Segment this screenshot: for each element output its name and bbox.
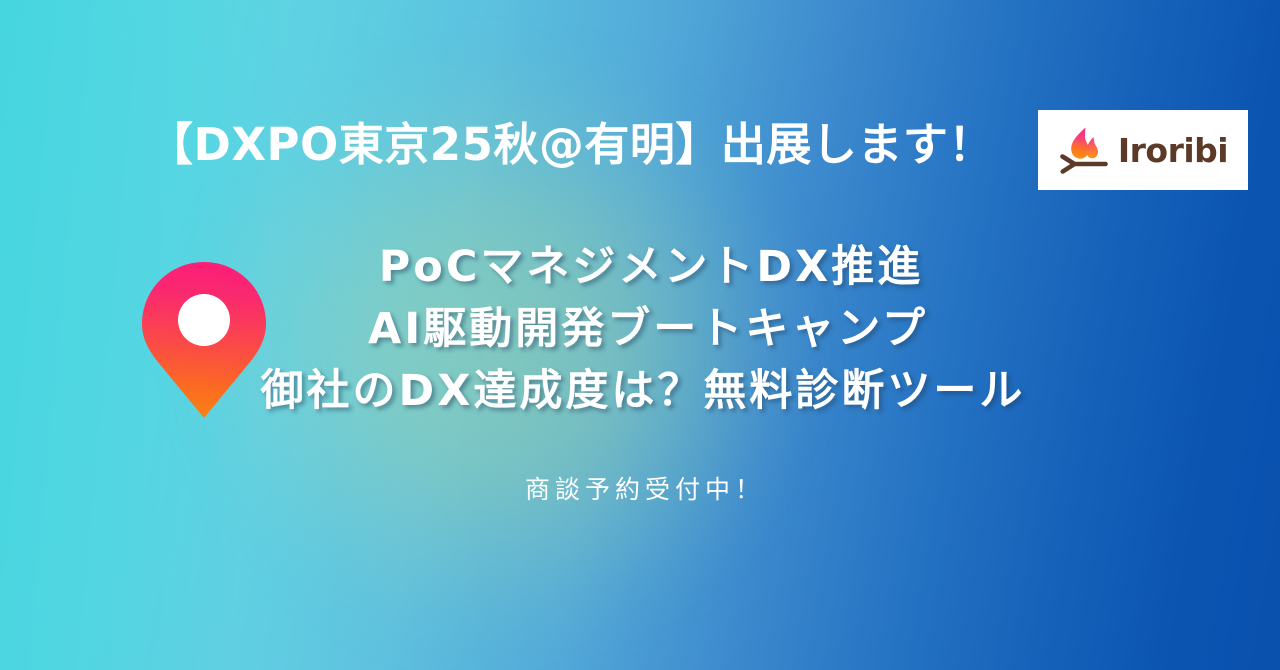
banner-content: 【DXPO東京25秋@有明】出展します！ <box>0 0 1280 670</box>
banner-main-lines: PoCマネジメントDX推進 AI駆動開発ブートキャンプ 御社のDX達成度は？無料… <box>0 236 1280 422</box>
banner-subnote: 商談予約受付中！ <box>0 470 1280 506</box>
banner-headline: 【DXPO東京25秋@有明】出展します！ <box>148 118 994 172</box>
hearth-flame-icon <box>1058 126 1110 174</box>
main-line-3: 御社のDX達成度は？無料診断ツール <box>0 360 1280 422</box>
event-promo-banner: 【DXPO東京25秋@有明】出展します！ <box>0 0 1280 670</box>
brand-logo-wordmark: Iroribi <box>1118 134 1228 167</box>
main-line-1: PoCマネジメントDX推進 <box>0 236 1280 298</box>
main-line-2: AI駆動開発ブートキャンプ <box>0 298 1280 360</box>
brand-logo-badge: Iroribi <box>1038 110 1248 190</box>
